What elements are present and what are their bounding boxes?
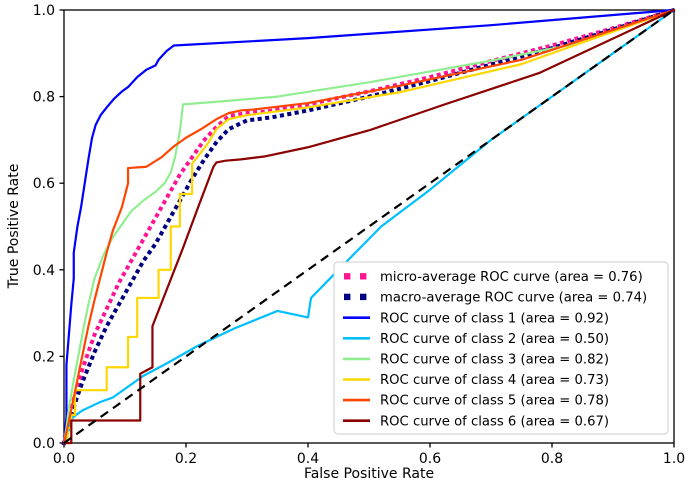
legend-item[interactable]: ROC curve of class 4 (area = 0.73) <box>343 373 609 388</box>
y-axis-ticks: 0.00.20.40.60.81.0 <box>33 3 64 452</box>
y-tick-label: 0.8 <box>33 90 55 106</box>
roc-curve-figure: 0.00.20.40.60.81.0 0.00.20.40.60.81.0 mi… <box>0 0 700 500</box>
x-tick-label: 0.0 <box>53 451 75 467</box>
y-tick-label: 0.4 <box>33 263 55 279</box>
x-tick-label: 0.4 <box>297 451 319 467</box>
legend-swatch-dot <box>360 294 366 300</box>
x-axis-ticks: 0.00.20.40.60.81.0 <box>53 443 685 467</box>
legend-label: ROC curve of class 4 (area = 0.73) <box>380 373 609 388</box>
legend-label: ROC curve of class 3 (area = 0.82) <box>380 353 609 368</box>
x-axis-label: False Positive Rate <box>304 466 434 482</box>
legend-item[interactable]: ROC curve of class 5 (area = 0.78) <box>343 394 609 409</box>
legend-item[interactable]: macro-average ROC curve (area = 0.74) <box>344 291 647 306</box>
legend-box: micro-average ROC curve (area = 0.76)mac… <box>334 262 668 434</box>
y-tick-label: 0.2 <box>33 349 55 365</box>
y-axis-label: True Positive Rate <box>6 164 22 290</box>
legend-item[interactable]: ROC curve of class 2 (area = 0.50) <box>343 332 609 347</box>
legend-label: ROC curve of class 6 (area = 0.67) <box>380 414 609 429</box>
plot-canvas: 0.00.20.40.60.81.0 0.00.20.40.60.81.0 mi… <box>0 0 700 500</box>
y-tick-label: 1.0 <box>33 3 55 19</box>
legend-label: ROC curve of class 5 (area = 0.78) <box>380 394 609 409</box>
legend-item[interactable]: ROC curve of class 3 (area = 0.82) <box>343 353 609 368</box>
legend-label: ROC curve of class 2 (area = 0.50) <box>380 332 609 347</box>
x-tick-label: 0.8 <box>541 451 563 467</box>
legend-swatch-dot <box>344 294 350 300</box>
legend-item[interactable]: ROC curve of class 6 (area = 0.67) <box>343 414 609 429</box>
legend-item[interactable]: ROC curve of class 1 (area = 0.92) <box>343 311 609 326</box>
legend-label: macro-average ROC curve (area = 0.74) <box>380 291 647 306</box>
legend-swatch-dot <box>344 273 350 279</box>
legend-label: micro-average ROC curve (area = 0.76) <box>380 270 643 285</box>
y-tick-label: 0.6 <box>33 176 55 192</box>
legend-item[interactable]: micro-average ROC curve (area = 0.76) <box>344 270 643 285</box>
x-tick-label: 1.0 <box>663 451 685 467</box>
x-tick-label: 0.2 <box>175 451 197 467</box>
legend-label: ROC curve of class 1 (area = 0.92) <box>380 311 609 326</box>
y-tick-label: 0.0 <box>33 436 55 452</box>
x-tick-label: 0.6 <box>419 451 441 467</box>
legend-swatch-dot <box>360 273 366 279</box>
